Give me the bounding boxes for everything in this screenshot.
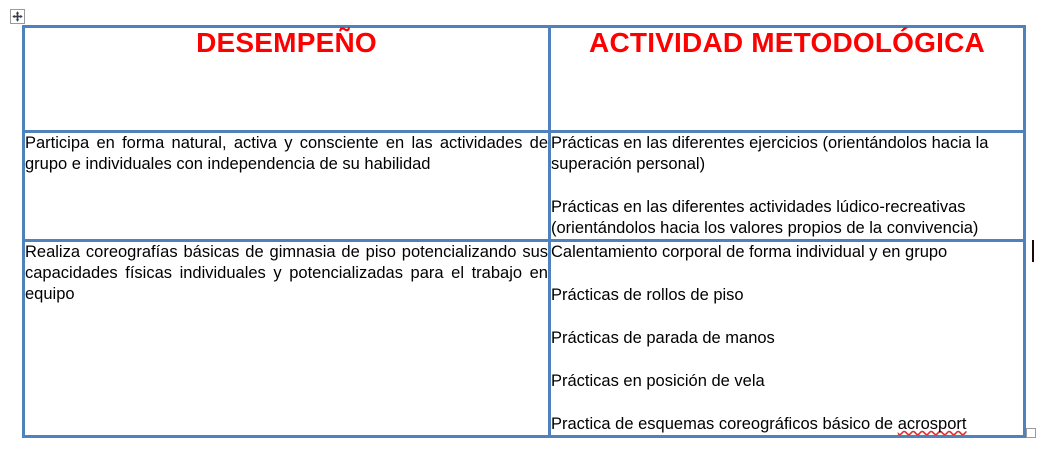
cell-desempeno-row-1[interactable]: Participa en forma natural, activa y con…	[24, 132, 550, 241]
actividad-item: Prácticas en posición de vela	[551, 371, 1023, 392]
competency-table[interactable]: DESEMPEÑO ACTIVIDAD METODOLÓGICA Partici…	[22, 25, 1026, 438]
cell-desempeno-row-2[interactable]: Realiza coreografías básicas de gimnasia…	[24, 241, 550, 437]
desempeno-text-row-2: Realiza coreografías básicas de gimnasia…	[25, 242, 548, 305]
actividad-item: Practica de esquemas coreográficos básic…	[551, 414, 1023, 435]
desempeno-text-row-1: Participa en forma natural, activa y con…	[25, 133, 548, 175]
move-four-way-arrow-icon	[12, 11, 23, 22]
actividad-item: Prácticas de rollos de piso	[551, 285, 1023, 306]
misspelled-word[interactable]: acrosport	[898, 415, 967, 433]
table-row: Participa en forma natural, activa y con…	[24, 132, 1025, 241]
actividad-item: Prácticas en las diferentes ejercicios (…	[551, 133, 1023, 175]
actividad-item-text: Practica de esquemas coreográficos básic…	[551, 415, 898, 433]
header-cell-actividad-metodologica[interactable]: ACTIVIDAD METODOLÓGICA	[550, 27, 1025, 132]
actividad-item: Prácticas de parada de manos	[551, 328, 1023, 349]
cell-actividades-row-2[interactable]: Calentamiento corporal de forma individu…	[550, 241, 1025, 437]
table-header-row: DESEMPEÑO ACTIVIDAD METODOLÓGICA	[24, 27, 1025, 132]
resize-corner-handle-icon[interactable]	[1026, 428, 1036, 438]
document-canvas: DESEMPEÑO ACTIVIDAD METODOLÓGICA Partici…	[0, 0, 1055, 460]
table-row: Realiza coreografías básicas de gimnasia…	[24, 241, 1025, 437]
actividad-item: Calentamiento corporal de forma individu…	[551, 242, 1023, 263]
header-label-actividad-metodologica: ACTIVIDAD METODOLÓGICA	[551, 28, 1023, 59]
actividad-item: Prácticas en las diferentes actividades …	[551, 197, 1023, 239]
cell-actividades-row-1[interactable]: Prácticas en las diferentes ejercicios (…	[550, 132, 1025, 241]
header-cell-desempeno[interactable]: DESEMPEÑO	[24, 27, 550, 132]
text-cursor	[1032, 240, 1034, 262]
header-label-desempeno: DESEMPEÑO	[25, 28, 548, 59]
table-move-handle-icon[interactable]	[10, 9, 25, 24]
